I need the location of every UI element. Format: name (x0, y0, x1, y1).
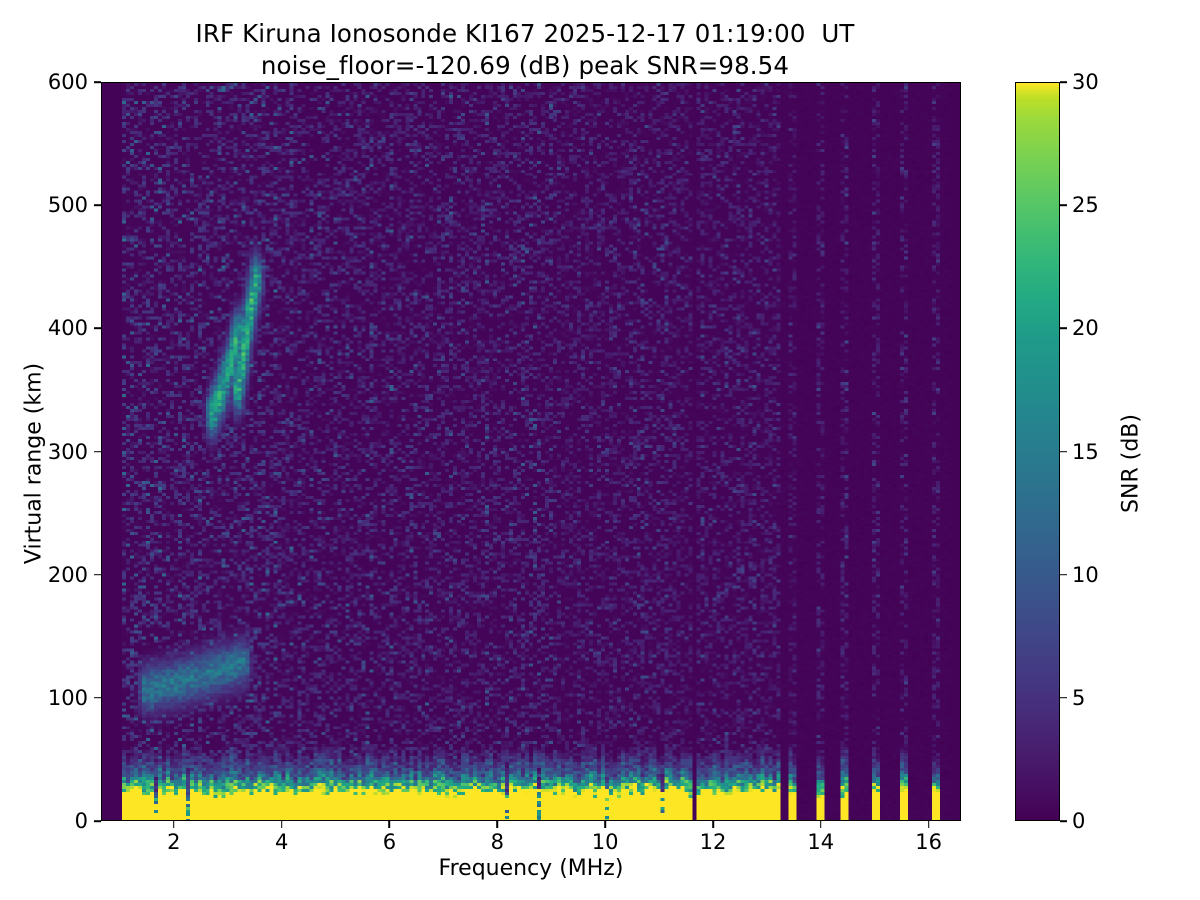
title-line-2: noise_floor=-120.69 (dB) peak SNR=98.54 (0, 50, 1050, 82)
x-axis-label: Frequency (MHz) (101, 856, 961, 881)
y-tick-label: 0 (18, 809, 88, 833)
colorbar-tick-mark (1060, 204, 1067, 206)
colorbar-tick-mark (1060, 451, 1067, 453)
x-tick-mark (281, 821, 283, 828)
colorbar-tick-label: 30 (1072, 70, 1099, 94)
y-tick-mark (94, 574, 101, 576)
ionogram-figure: IRF Kiruna Ionosonde KI167 2025-12-17 01… (0, 0, 1200, 900)
plot-area[interactable] (101, 82, 961, 821)
y-tick-label: 200 (18, 563, 88, 587)
y-tick-mark (94, 451, 101, 453)
y-tick-mark (94, 204, 101, 206)
x-tick-mark (604, 821, 606, 828)
x-tick-mark (820, 821, 822, 828)
colorbar-tick-mark (1060, 820, 1067, 822)
x-tick-mark (497, 821, 499, 828)
colorbar-tick-mark (1060, 81, 1067, 83)
y-tick-mark (94, 328, 101, 330)
colorbar-tick-label: 15 (1072, 440, 1099, 464)
colorbar-tick-label: 10 (1072, 563, 1099, 587)
x-tick-mark (389, 821, 391, 828)
y-tick-label: 600 (18, 70, 88, 94)
x-tick-label: 6 (383, 830, 396, 854)
colorbar-tick-mark (1060, 328, 1067, 330)
colorbar-tick-label: 5 (1072, 686, 1085, 710)
colorbar-tick-mark (1060, 574, 1067, 576)
colorbar[interactable] (1015, 82, 1060, 821)
x-tick-label: 12 (700, 830, 727, 854)
colorbar-tick-label: 20 (1072, 316, 1099, 340)
y-tick-label: 300 (18, 440, 88, 464)
title-line-1: IRF Kiruna Ionosonde KI167 2025-12-17 01… (0, 18, 1050, 50)
x-tick-label: 8 (491, 830, 504, 854)
page-title: IRF Kiruna Ionosonde KI167 2025-12-17 01… (0, 18, 1050, 82)
colorbar-label: SNR (dB) (1119, 334, 1144, 594)
x-tick-mark (712, 821, 714, 828)
x-tick-label: 16 (915, 830, 942, 854)
x-tick-mark (928, 821, 930, 828)
colorbar-tick-label: 25 (1072, 193, 1099, 217)
x-tick-label: 10 (592, 830, 619, 854)
ionogram-heatmap[interactable] (102, 83, 960, 820)
x-tick-label: 14 (807, 830, 834, 854)
y-tick-mark (94, 820, 101, 822)
y-tick-mark (94, 697, 101, 699)
x-tick-label: 4 (275, 830, 288, 854)
x-tick-mark (173, 821, 175, 828)
y-tick-label: 500 (18, 193, 88, 217)
y-tick-mark (94, 81, 101, 83)
colorbar-tick-label: 0 (1072, 809, 1085, 833)
y-tick-label: 400 (18, 316, 88, 340)
y-tick-label: 100 (18, 686, 88, 710)
colorbar-tick-mark (1060, 697, 1067, 699)
x-tick-label: 2 (167, 830, 180, 854)
